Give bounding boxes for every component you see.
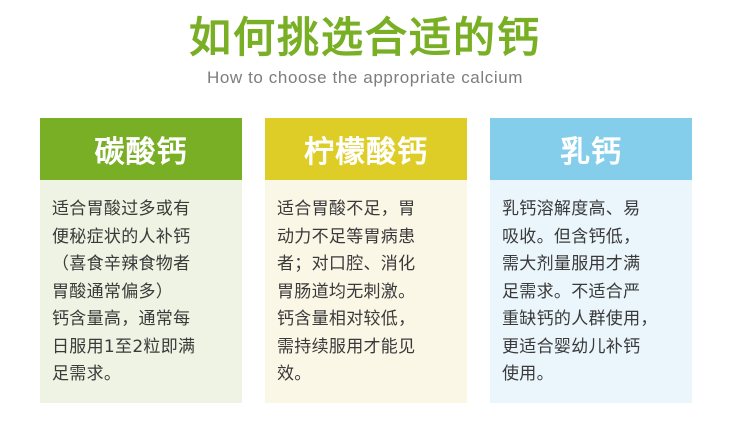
card-calcium-citrate: 柠檬酸钙 适合胃酸不足，胃 动力不足等胃病患 者；对口腔、消化 胃肠道均无刺激。… [265, 118, 467, 403]
infographic-page: 如何挑选合适的钙 How to choose the appropriate c… [0, 0, 730, 426]
card-title-milk-calcium: 乳钙 [490, 118, 692, 180]
page-title: 如何挑选合适的钙 [0, 14, 730, 62]
card-title-calcium-citrate: 柠檬酸钙 [265, 118, 467, 180]
card-body-milk-calcium: 乳钙溶解度高、易 吸收。但含钙低， 需大剂量服用才满 足需求。不适合严 重缺钙的… [490, 180, 692, 403]
card-title-calcium-carbonate: 碳酸钙 [40, 118, 242, 180]
card-body-calcium-carbonate: 适合胃酸过多或有 便秘症状的人补钙 （喜食辛辣食物者 胃酸通常偏多） 钙含量高，… [40, 180, 242, 403]
card-milk-calcium: 乳钙 乳钙溶解度高、易 吸收。但含钙低， 需大剂量服用才满 足需求。不适合严 重… [490, 118, 692, 403]
comparison-cards: 碳酸钙 适合胃酸过多或有 便秘症状的人补钙 （喜食辛辣食物者 胃酸通常偏多） 钙… [40, 118, 692, 403]
page-header: 如何挑选合适的钙 How to choose the appropriate c… [0, 0, 730, 88]
card-calcium-carbonate: 碳酸钙 适合胃酸过多或有 便秘症状的人补钙 （喜食辛辣食物者 胃酸通常偏多） 钙… [40, 118, 242, 403]
page-subtitle: How to choose the appropriate calcium [0, 68, 730, 88]
card-body-calcium-citrate: 适合胃酸不足，胃 动力不足等胃病患 者；对口腔、消化 胃肠道均无刺激。 钙含量相… [265, 180, 467, 403]
